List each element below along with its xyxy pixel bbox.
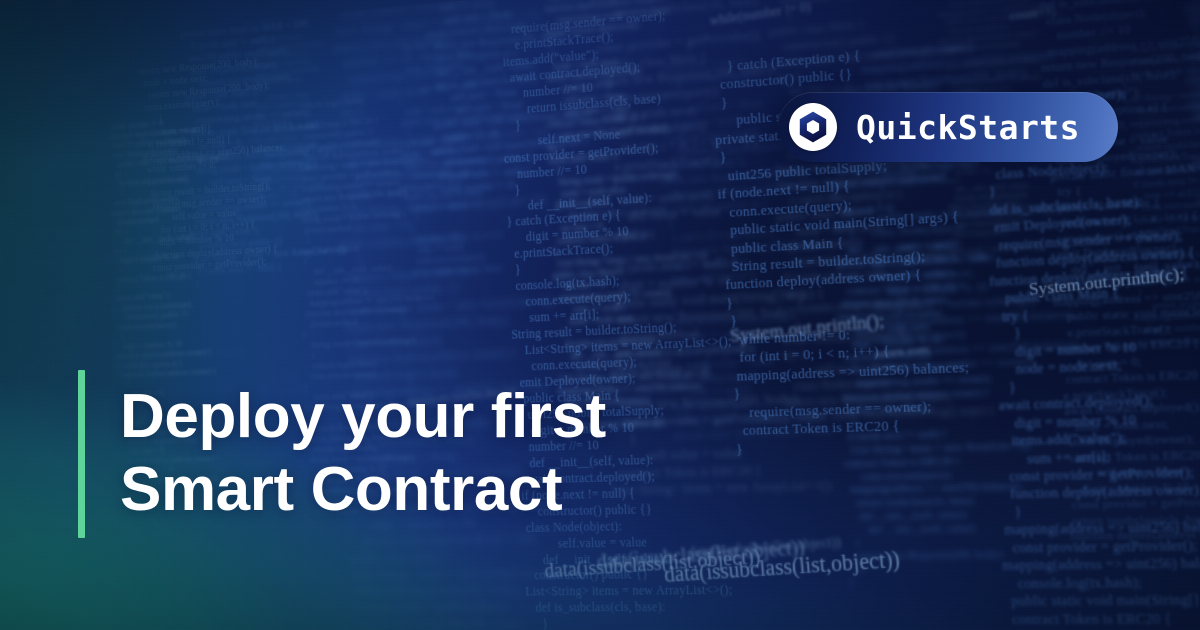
page-title: Deploy your first Smart Contract bbox=[120, 381, 820, 526]
headline-line-2: Smart Contract bbox=[120, 454, 820, 527]
badge-label: QuickStarts bbox=[856, 111, 1080, 144]
chainlink-hexagon-icon bbox=[789, 103, 837, 151]
quickstarts-banner: number //= 10 try { @staticmethod } catc… bbox=[0, 0, 1200, 630]
quickstarts-badge[interactable]: QuickStarts bbox=[778, 92, 1118, 162]
headline-accent-bar bbox=[78, 370, 85, 538]
headline-line-1: Deploy your first bbox=[120, 381, 820, 454]
